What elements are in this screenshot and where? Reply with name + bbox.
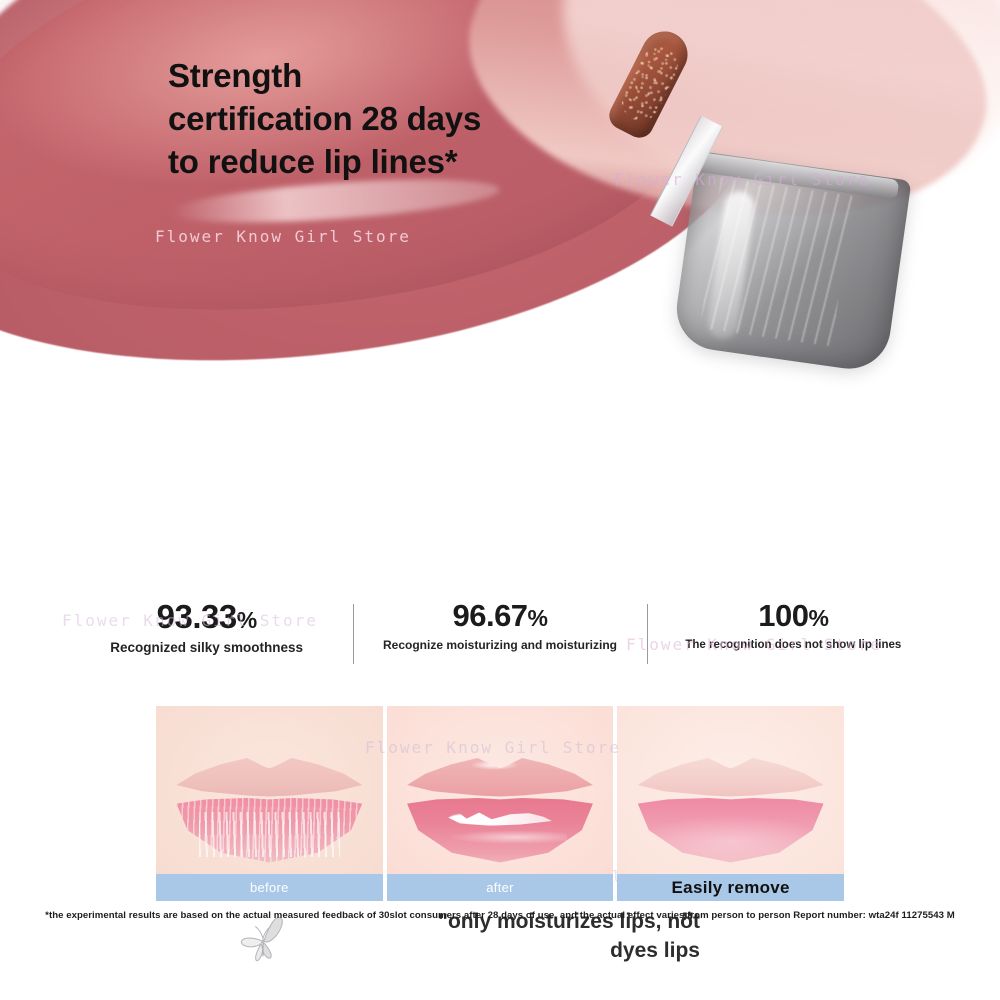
stat-caption: The recognition does not show lip lines: [657, 638, 930, 652]
upper-lip: [638, 753, 824, 805]
product-marketing-page: Strength certification 28 days to reduce…: [0, 0, 1000, 1000]
stat-value: 93.33%: [70, 600, 343, 635]
stat-item: 96.67% Recognize moisturizing and moistu…: [353, 600, 646, 680]
stat-value: 100%: [657, 600, 930, 633]
lips-illustration: [176, 753, 362, 866]
dry-flake-texture: [199, 812, 340, 857]
lips-illustration: [638, 753, 824, 866]
gloss-sheen: [433, 830, 567, 854]
disclaimer-text: *the experimental results are based on t…: [0, 910, 1000, 921]
stat-item: 100% The recognition does not show lip l…: [647, 600, 940, 680]
soft-sheen: [638, 798, 824, 868]
stat-item: 93.33% Recognized silky smoothness: [60, 600, 353, 680]
upper-lip: [407, 753, 593, 805]
before-after-gallery: before after Easily remove: [156, 706, 844, 901]
lower-lip: [638, 798, 824, 868]
photo-after: after: [387, 706, 614, 901]
photo-caption: after: [387, 874, 614, 901]
photo-before: before: [156, 706, 383, 901]
upper-lip: [176, 753, 362, 805]
stat-value: 96.67%: [363, 600, 636, 633]
photo-caption: Easily remove: [617, 874, 844, 901]
product-image-lipgloss: [600, 15, 900, 375]
gloss-highlight-upper: [470, 760, 518, 770]
statistics-row: 93.33% Recognized silky smoothness 96.67…: [60, 600, 940, 680]
stat-caption: Recognized silky smoothness: [70, 640, 343, 656]
quote-section: Flower Know Girl Store "only moisturizes…: [0, 425, 1000, 560]
photo-easily-remove: Easily remove: [617, 706, 844, 901]
stat-caption: Recognize moisturizing and moisturizing: [363, 638, 636, 653]
photo-caption: before: [156, 874, 383, 901]
page-title: Strength certification 28 days to reduce…: [168, 55, 598, 184]
lips-illustration: [407, 753, 593, 866]
lower-lip: [407, 798, 593, 868]
hero-section: Strength certification 28 days to reduce…: [0, 0, 1000, 395]
